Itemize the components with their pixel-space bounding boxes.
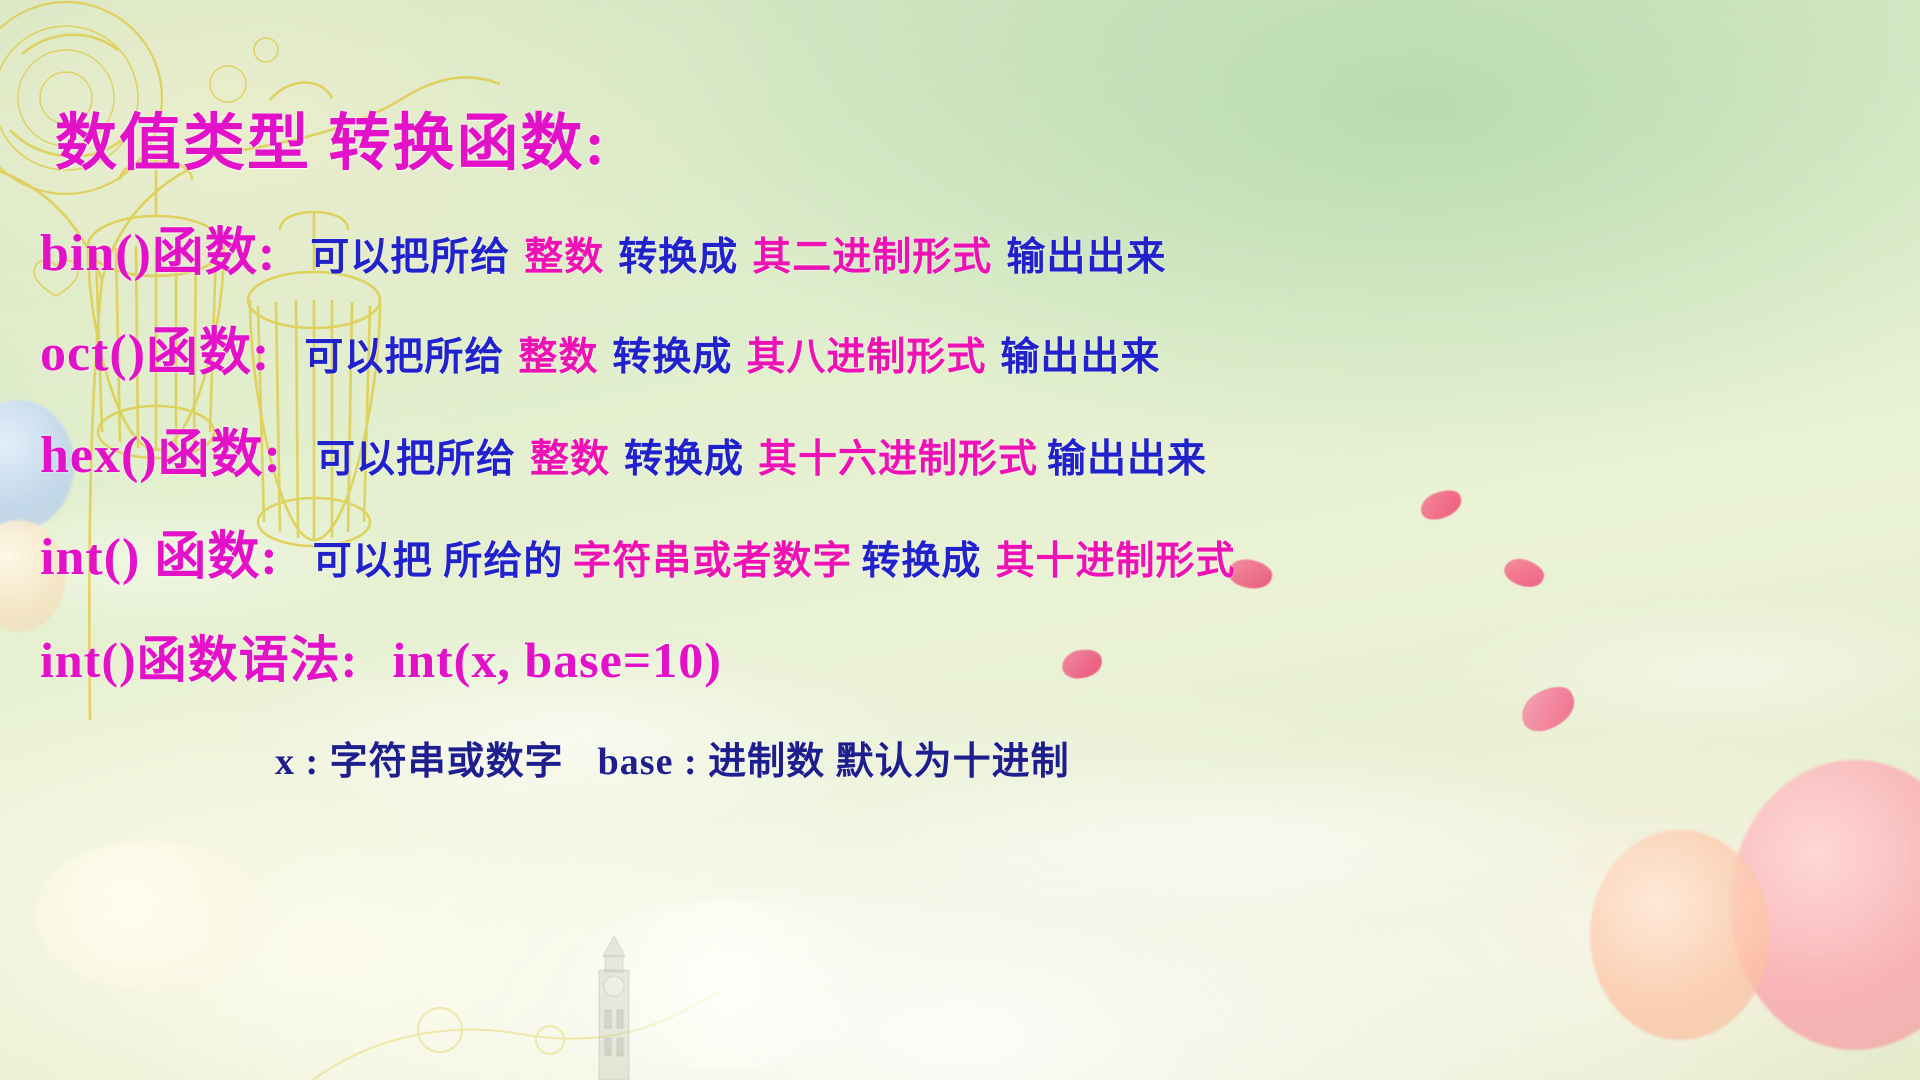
- oct-desc-part-5: 输出出来: [1000, 336, 1160, 379]
- function-row-hex: hex()函数: 可以把所给整数转换成其十六进制形式输出出来: [40, 412, 1207, 487]
- oct-desc-part-2: 整数: [518, 336, 598, 379]
- bin-desc-part-1: 可以把所给: [310, 236, 510, 279]
- oct-desc-part-3: 转换成: [612, 336, 732, 379]
- slide-canvas: 数值类型 转换函数: bin()函数: 可以把所给整数转换成其二进制形式输出出来…: [0, 0, 1920, 1080]
- bin-desc-part-5: 输出出来: [1006, 236, 1166, 279]
- int-syntax-label: int()函数语法:: [40, 632, 358, 688]
- hex-desc-part-2: 整数: [530, 438, 610, 481]
- bin-desc-part-3: 转换成: [618, 236, 738, 279]
- int-desc-part-2: 字符串或者数字: [572, 540, 852, 583]
- oct-desc-part-1: 可以把所给: [304, 336, 504, 379]
- function-name-oct: oct()函数:: [40, 325, 270, 382]
- int-syntax-row: int()函数语法: int(x, base=10): [40, 620, 722, 692]
- bin-desc-part-2: 整数: [524, 236, 604, 279]
- int-desc-part-4: 其十进制形式: [995, 540, 1235, 583]
- hex-desc-part-1: 可以把所给: [316, 438, 516, 481]
- int-syntax-signature: int(x, base=10): [392, 632, 722, 688]
- hex-desc-part-3: 转换成: [624, 438, 744, 481]
- hex-desc-part-5: 输出出来: [1047, 438, 1207, 481]
- int-desc-part-1: 可以把 所给的: [313, 540, 564, 583]
- slide-title: 数值类型 转换函数:: [55, 92, 607, 182]
- int-desc-part-3: 转换成: [861, 540, 981, 583]
- params-note-row: x : 字符串或数字 base : 进制数 默认为十进制: [275, 730, 1070, 785]
- function-row-oct: oct()函数: 可以把所给整数转换成其八进制形式输出出来: [40, 310, 1160, 385]
- oct-desc-part-4: 其八进制形式: [746, 336, 986, 379]
- hex-desc-part-4: 其十六进制形式: [758, 438, 1038, 481]
- function-row-int: int() 函数: 可以把 所给的字符串或者数字转换成其十进制形式: [40, 514, 1235, 589]
- param-x-note: x : 字符串或数字: [275, 741, 564, 783]
- param-base-note: base : 进制数 默认为十进制: [598, 741, 1070, 783]
- function-name-hex: hex()函数:: [40, 427, 282, 484]
- function-name-int: int() 函数:: [40, 529, 279, 586]
- slide-text-content: 数值类型 转换函数: bin()函数: 可以把所给整数转换成其二进制形式输出出来…: [0, 0, 1920, 1080]
- function-row-bin: bin()函数: 可以把所给整数转换成其二进制形式输出出来: [40, 210, 1166, 285]
- function-name-bin: bin()函数:: [40, 225, 276, 282]
- bin-desc-part-4: 其二进制形式: [752, 236, 992, 279]
